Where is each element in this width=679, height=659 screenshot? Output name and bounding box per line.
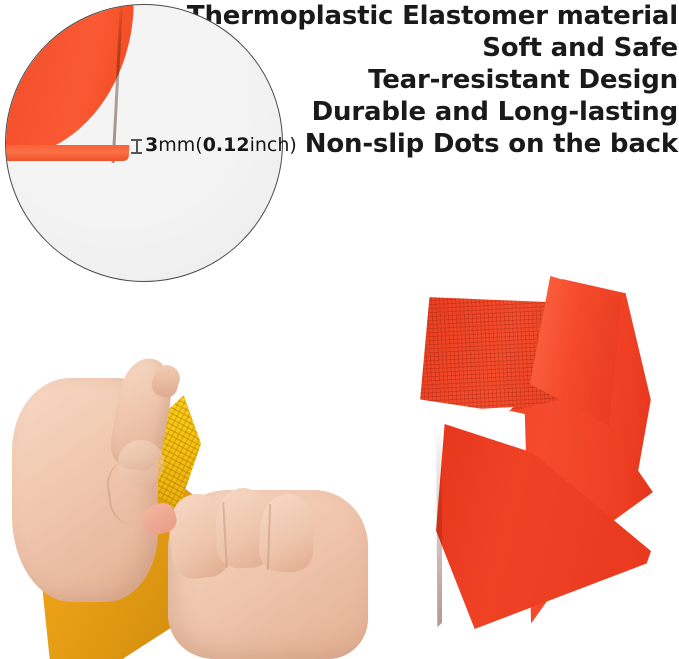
thickness-mm-unit: mm <box>158 134 195 156</box>
caliper-serif-bottom <box>131 152 142 154</box>
thickness-paren-close: ) <box>289 134 296 156</box>
feature-line-material: Thermoplastic Elastomer material <box>180 0 678 32</box>
red-mat-edge-shadow <box>436 422 442 627</box>
thickness-label: 3mm(0.12inch) <box>145 134 297 156</box>
thickness-mm-value: 3 <box>145 134 158 156</box>
magnified-mat-thickness-face <box>6 145 129 161</box>
thickness-caliper-icon <box>131 139 142 154</box>
product-feature-image: Thermoplastic Elastomer material Soft an… <box>0 0 679 659</box>
hands-stretching-mat-photo <box>20 352 370 659</box>
red-mat-photo <box>400 272 679 659</box>
thickness-inch-unit: inch <box>250 134 290 156</box>
thickness-paren-open: ( <box>195 134 202 156</box>
thickness-inch-value: 0.12 <box>203 134 250 156</box>
